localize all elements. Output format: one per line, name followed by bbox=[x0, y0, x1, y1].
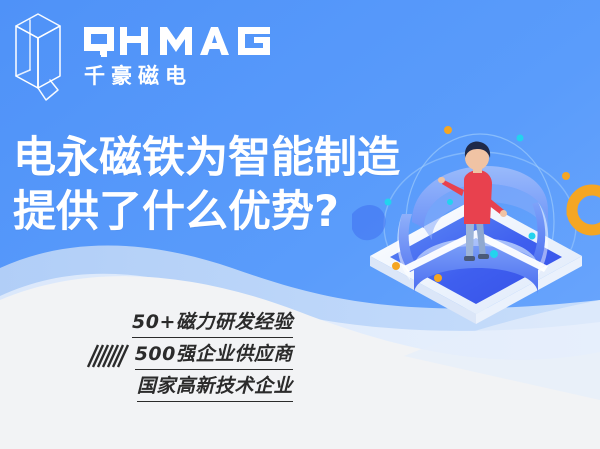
promo-banner: 千豪磁电 电永磁铁为智能制造 提供了什么优势? bbox=[0, 0, 600, 449]
orange-ring-accent bbox=[572, 190, 600, 230]
headline-line-2: 提供了什么优势? bbox=[13, 185, 400, 239]
logo-text-group: 千豪磁电 bbox=[82, 25, 278, 87]
claim-item: 50+磁力研发经验 bbox=[132, 309, 293, 338]
qhmag-wordmark bbox=[82, 25, 278, 59]
claim-item: 国家高新技术企业 bbox=[137, 373, 293, 402]
logo-block: 千豪磁电 bbox=[8, 8, 278, 104]
logo-subtitle-cn: 千豪磁电 bbox=[82, 66, 278, 87]
diagonal-hatch-icon bbox=[86, 343, 130, 369]
isometric-platform-illustration bbox=[352, 118, 600, 333]
claim-item: 500强企业供应商 bbox=[135, 341, 293, 370]
wireframe-box-icon bbox=[8, 8, 68, 104]
headline-line-1: 电永磁铁为智能制造 bbox=[13, 131, 400, 185]
claim-list: 50+磁力研发经验 500强企业供应商 国家高新技术企业 bbox=[132, 309, 293, 402]
claims-block: 50+磁力研发经验 500强企业供应商 国家高新技术企业 bbox=[86, 309, 293, 402]
headline: 电永磁铁为智能制造 提供了什么优势? bbox=[13, 131, 400, 239]
